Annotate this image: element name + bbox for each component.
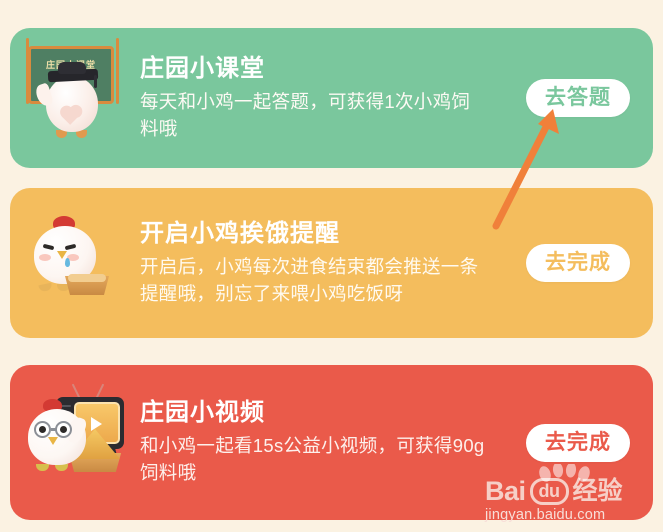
task-card-body: 开启小鸡挨饿提醒 开启后，小鸡每次进食结束都会推送一条提醒哦，别忘了来喂小鸡吃饭… (132, 219, 503, 308)
glasses-bridge (51, 428, 57, 431)
task-description: 开启后，小鸡每次进食结束都会推送一条提醒哦，别忘了来喂小鸡吃饭呀 (140, 254, 485, 308)
task-description: 和小鸡一起看15s公益小视频，可获得90g饲料哦 (140, 433, 485, 487)
tear-drop-icon (65, 258, 70, 267)
task-action-area: 去完成 (503, 244, 653, 282)
chick-foot-right (55, 464, 68, 471)
glasses-chick-tv-feed-icon (10, 365, 132, 520)
crying-chick-empty-trough-icon (10, 188, 132, 338)
chick-foot-left (38, 283, 52, 293)
chick-body (46, 76, 98, 132)
go-complete-button-reminder[interactable]: 去完成 (526, 244, 630, 282)
go-complete-button-video[interactable]: 去完成 (526, 424, 630, 462)
chick-beak (48, 437, 58, 445)
go-answer-button[interactable]: 去答题 (526, 79, 630, 117)
blackboard-post-right (116, 38, 119, 104)
task-action-area: 去答题 (503, 79, 653, 117)
play-icon (91, 417, 102, 431)
chick-foot-left (36, 464, 49, 471)
task-title: 开启小鸡挨饿提醒 (140, 219, 499, 249)
chick-pupil-right (60, 426, 67, 433)
feed-trough-rim (68, 274, 106, 282)
graduation-cap-top (58, 62, 86, 74)
tv-speaker-grill (61, 405, 71, 407)
chick-pupil-left (39, 426, 46, 433)
screenshot-root: 庄园小课堂 庄园小课堂 每天和小鸡一起答题，可获得1次小鸡饲料哦 去答题 (0, 0, 663, 532)
task-card-short-video[interactable]: 庄园小视频 和小鸡一起看15s公益小视频，可获得90g饲料哦 去完成 (10, 365, 653, 520)
graduate-chick-blackboard-icon: 庄园小课堂 (10, 28, 132, 168)
task-card-daily-quiz[interactable]: 庄园小课堂 庄园小课堂 每天和小鸡一起答题，可获得1次小鸡饲料哦 去答题 (10, 28, 653, 168)
task-title: 庄园小视频 (140, 398, 499, 428)
task-description: 每天和小鸡一起答题，可获得1次小鸡饲料哦 (140, 89, 485, 143)
chick-blush-left (39, 254, 51, 261)
task-action-area: 去完成 (503, 424, 653, 462)
task-card-body: 庄园小课堂 每天和小鸡一起答题，可获得1次小鸡饲料哦 (132, 54, 503, 143)
task-card-body: 庄园小视频 和小鸡一起看15s公益小视频，可获得90g饲料哦 (132, 398, 503, 487)
graduation-cap-tassel (94, 75, 97, 88)
task-title: 庄园小课堂 (140, 54, 499, 84)
task-card-hunger-reminder[interactable]: 开启小鸡挨饿提醒 开启后，小鸡每次进食结束都会推送一条提醒哦，别忘了来喂小鸡吃饭… (10, 188, 653, 338)
